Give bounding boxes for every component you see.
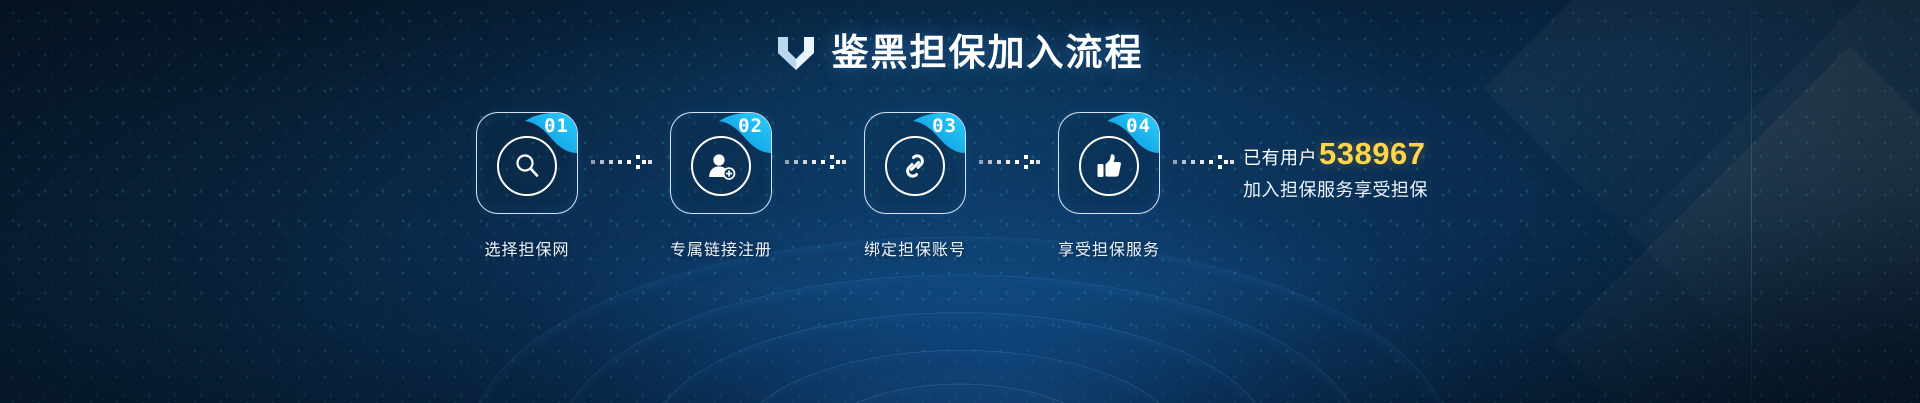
radar-ring <box>649 312 1271 403</box>
radar-ring <box>739 350 1181 403</box>
step-item[interactable]: 02 专属链接注册 <box>661 112 781 260</box>
promo-banner: 鉴黑担保加入流程 01 <box>0 0 1920 403</box>
step-item[interactable]: 04 享受担保服务 <box>1049 112 1169 260</box>
step-label: 选择担保网 <box>484 236 569 260</box>
step-number-badge: 01 <box>515 113 577 155</box>
step-label: 专属链接注册 <box>670 236 772 260</box>
steps-flow: 01 选择担保网 <box>0 112 1920 260</box>
radar-core-glow <box>410 263 1510 403</box>
step-number: 02 <box>738 117 763 136</box>
step-card[interactable]: 01 <box>476 112 578 214</box>
step-number: 01 <box>544 117 569 136</box>
step-item[interactable]: 01 选择担保网 <box>467 112 587 260</box>
dotted-arrow-right-icon <box>975 112 1049 212</box>
radar-ring <box>559 275 1361 403</box>
radar-ring <box>469 237 1451 403</box>
user-count-value: 538967 <box>1319 138 1425 169</box>
step-card[interactable]: 03 <box>864 112 966 214</box>
page-title: 鉴黑担保加入流程 <box>832 34 1144 71</box>
step-number: 04 <box>1126 117 1151 136</box>
dotted-arrow-right-icon <box>1169 112 1243 212</box>
step-number-badge: 02 <box>709 113 771 155</box>
radar-ring <box>819 384 1101 403</box>
step-number-badge: 03 <box>903 113 965 155</box>
step-card[interactable]: 02 <box>670 112 772 214</box>
stats-prefix-label: 已有用户 <box>1243 144 1317 170</box>
step-label: 享受担保服务 <box>1058 236 1160 260</box>
shield-chevron-logo-icon <box>777 35 815 71</box>
step-label: 绑定担保账号 <box>864 236 966 260</box>
stats-block: 已有用户 538967 加入担保服务享受担保 <box>1243 112 1453 202</box>
banner-header: 鉴黑担保加入流程 <box>0 34 1920 71</box>
dotted-arrow-right-icon <box>587 112 661 212</box>
stats-primary-line: 已有用户 538967 <box>1243 138 1453 170</box>
step-card[interactable]: 04 <box>1058 112 1160 214</box>
step-item[interactable]: 03 绑定担保账号 <box>855 112 975 260</box>
stats-subtitle: 加入担保服务享受担保 <box>1243 176 1453 202</box>
step-number-badge: 04 <box>1097 113 1159 155</box>
step-number: 03 <box>932 117 957 136</box>
dotted-arrow-right-icon <box>781 112 855 212</box>
